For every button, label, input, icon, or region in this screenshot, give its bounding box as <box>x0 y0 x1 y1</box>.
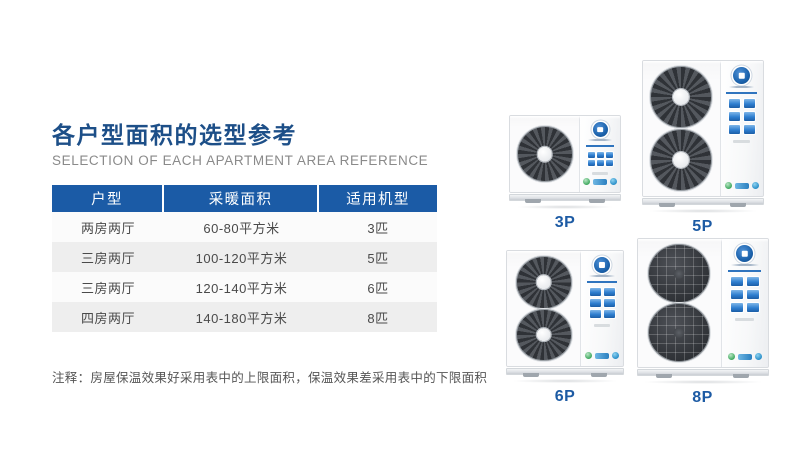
fan-blade-icon <box>650 129 712 191</box>
fan-bay <box>507 251 581 366</box>
fan-hub-icon <box>673 152 689 168</box>
model-badge-icon <box>593 179 607 185</box>
cell-suitable-model: 8匹 <box>319 302 437 332</box>
fan-bay <box>643 61 721 196</box>
outdoor-unit-body <box>509 115 621 193</box>
unit-base <box>642 198 764 205</box>
unit-foot <box>591 373 607 377</box>
unit-foot <box>730 203 746 207</box>
column-header-suitable-model: 适用机型 <box>319 185 437 212</box>
side-panel-fin <box>620 128 621 178</box>
control-panel <box>722 239 768 367</box>
brand-wordmark <box>731 264 759 266</box>
brand-wordmark <box>588 139 612 141</box>
control-panel <box>581 251 623 366</box>
panel-label-strip <box>733 140 750 143</box>
control-button <box>597 160 604 166</box>
product-image-5p <box>642 60 764 213</box>
eco-badge-icon <box>728 353 735 360</box>
certification-badges <box>728 353 762 362</box>
cell-suitable-model: 6匹 <box>319 272 437 302</box>
certification-badges <box>725 182 759 191</box>
control-button <box>747 277 759 286</box>
cell-heating-area: 140-180平方米 <box>164 302 319 332</box>
control-button <box>729 99 740 108</box>
table-header-row: 户型 采暖面积 适用机型 <box>52 185 437 212</box>
cell-apartment-type: 两房两厅 <box>52 212 164 242</box>
certification-badges <box>583 178 617 187</box>
heading-block: 各户型面积的选型参考 SELECTION OF EACH APARTMENT A… <box>52 122 452 168</box>
side-panel-fin <box>763 83 764 175</box>
control-button <box>604 299 615 307</box>
page-title: 各户型面积的选型参考 <box>52 122 452 148</box>
product-image-3p <box>509 115 621 209</box>
unit-foot <box>656 374 672 378</box>
table-row: 三房两厅 100-120平方米 5匹 <box>52 242 437 272</box>
control-button-grid <box>731 277 759 312</box>
outdoor-unit-body <box>642 60 764 197</box>
product-image-8p <box>637 238 769 384</box>
panel-divider <box>728 270 762 272</box>
control-button <box>588 160 595 166</box>
model-badge-icon <box>735 183 749 189</box>
unit-base <box>637 369 769 376</box>
drop-shadow <box>644 380 762 384</box>
unit-base <box>506 368 624 375</box>
cell-suitable-model: 5匹 <box>319 242 437 272</box>
model-badge-icon <box>595 353 609 359</box>
side-panel-fin <box>623 269 624 349</box>
fan-bay <box>638 239 722 367</box>
fan-blade-icon <box>516 309 572 362</box>
control-button <box>731 277 743 286</box>
cell-heating-area: 100-120平方米 <box>164 242 319 272</box>
table-row: 四房两厅 140-180平方米 8匹 <box>52 302 437 332</box>
control-button <box>588 152 595 158</box>
table-row: 三房两厅 120-140平方米 6匹 <box>52 272 437 302</box>
brand-wordmark <box>589 275 614 277</box>
fan-grille-icon <box>648 303 710 362</box>
product-label-6p: 6P <box>500 388 630 406</box>
product-label-3p: 3P <box>505 214 625 232</box>
control-button <box>729 112 740 121</box>
table-row: 两房两厅 60-80平方米 3匹 <box>52 212 437 242</box>
product-image-6p <box>506 250 624 383</box>
product-gallery: 3P <box>470 0 800 456</box>
product-label-8p: 8P <box>630 389 775 407</box>
brand-logo-icon <box>733 67 750 84</box>
certification-badges <box>585 352 619 361</box>
unit-foot <box>733 374 749 378</box>
table-footnote: 注释：房屋保温效果好采用表中的上限面积，保温效果差采用表中的下限面积 <box>52 367 487 386</box>
fan-hub-icon <box>536 275 551 289</box>
brand-logo-icon <box>736 245 753 262</box>
brand-logo-icon <box>594 257 610 273</box>
unit-foot <box>589 199 605 203</box>
control-button <box>744 99 755 108</box>
control-button-grid <box>588 152 613 166</box>
fan-blade-icon <box>517 126 573 182</box>
control-button <box>606 152 613 158</box>
fan-blade-icon <box>650 66 712 128</box>
control-button <box>604 288 615 296</box>
outdoor-unit-body <box>637 238 769 368</box>
control-button <box>729 125 740 134</box>
control-button <box>744 125 755 134</box>
brand-logo-icon <box>593 122 608 137</box>
outdoor-unit-body <box>506 250 624 367</box>
certification-badge-icon <box>752 182 759 189</box>
fan-grille-icon <box>648 244 710 303</box>
panel-divider <box>586 145 615 147</box>
certification-badge-icon <box>755 353 762 360</box>
panel-divider <box>587 281 617 283</box>
product-6p: 6P <box>500 250 630 406</box>
cell-apartment-type: 三房两厅 <box>52 242 164 272</box>
fan-hub-icon <box>536 328 551 342</box>
unit-base <box>509 194 621 201</box>
column-header-heating-area: 采暖面积 <box>164 185 319 212</box>
eco-badge-icon <box>583 178 590 185</box>
control-panel <box>721 61 763 196</box>
panel-label-strip <box>735 318 753 321</box>
fan-blade-icon <box>516 256 572 309</box>
control-button <box>597 152 604 158</box>
control-button <box>731 290 743 299</box>
fan-bay <box>510 116 580 192</box>
product-3p: 3P <box>505 115 625 232</box>
drop-shadow <box>517 205 613 209</box>
certification-badge-icon <box>612 352 619 359</box>
product-8p: 8P <box>630 238 775 407</box>
eco-badge-icon <box>585 352 592 359</box>
fan-hub-icon <box>673 327 684 338</box>
control-button <box>731 303 743 312</box>
control-button <box>747 303 759 312</box>
model-badge-icon <box>738 354 752 360</box>
panel-label-strip <box>592 172 608 175</box>
column-header-apartment-type: 户型 <box>52 185 164 212</box>
control-button <box>590 299 601 307</box>
drop-shadow <box>649 209 757 213</box>
table-header: 户型 采暖面积 适用机型 <box>52 185 437 212</box>
cell-heating-area: 60-80平方米 <box>164 212 319 242</box>
control-button <box>590 310 601 318</box>
cell-apartment-type: 三房两厅 <box>52 272 164 302</box>
control-button <box>606 160 613 166</box>
side-panel-fin <box>768 259 769 345</box>
panel-label-strip <box>594 324 611 327</box>
fan-hub-icon <box>673 89 689 105</box>
product-5p: 5P <box>635 60 770 236</box>
fan-hub-icon <box>673 268 684 279</box>
eco-badge-icon <box>725 182 732 189</box>
control-button <box>590 288 601 296</box>
unit-foot <box>523 373 539 377</box>
panel-divider <box>726 92 756 94</box>
page-subtitle: SELECTION OF EACH APARTMENT AREA REFEREN… <box>52 153 452 168</box>
fan-hub-icon <box>537 147 552 162</box>
product-label-5p: 5P <box>635 218 770 236</box>
control-button-grid <box>729 99 755 134</box>
cell-apartment-type: 四房两厅 <box>52 302 164 332</box>
control-panel <box>580 116 620 192</box>
table-body: 两房两厅 60-80平方米 3匹 三房两厅 100-120平方米 5匹 三房两厅… <box>52 212 437 332</box>
control-button-grid <box>590 288 615 318</box>
control-button <box>744 112 755 121</box>
unit-foot <box>525 199 541 203</box>
control-button <box>747 290 759 299</box>
left-content-panel: 各户型面积的选型参考 SELECTION OF EACH APARTMENT A… <box>0 0 470 456</box>
unit-foot <box>659 203 675 207</box>
control-button <box>604 310 615 318</box>
cell-heating-area: 120-140平方米 <box>164 272 319 302</box>
drop-shadow <box>513 379 617 383</box>
cell-suitable-model: 3匹 <box>319 212 437 242</box>
apartment-area-table: 户型 采暖面积 适用机型 两房两厅 60-80平方米 3匹 三房两厅 100-1… <box>52 185 437 332</box>
brand-wordmark <box>729 86 754 88</box>
certification-badge-icon <box>610 178 617 185</box>
